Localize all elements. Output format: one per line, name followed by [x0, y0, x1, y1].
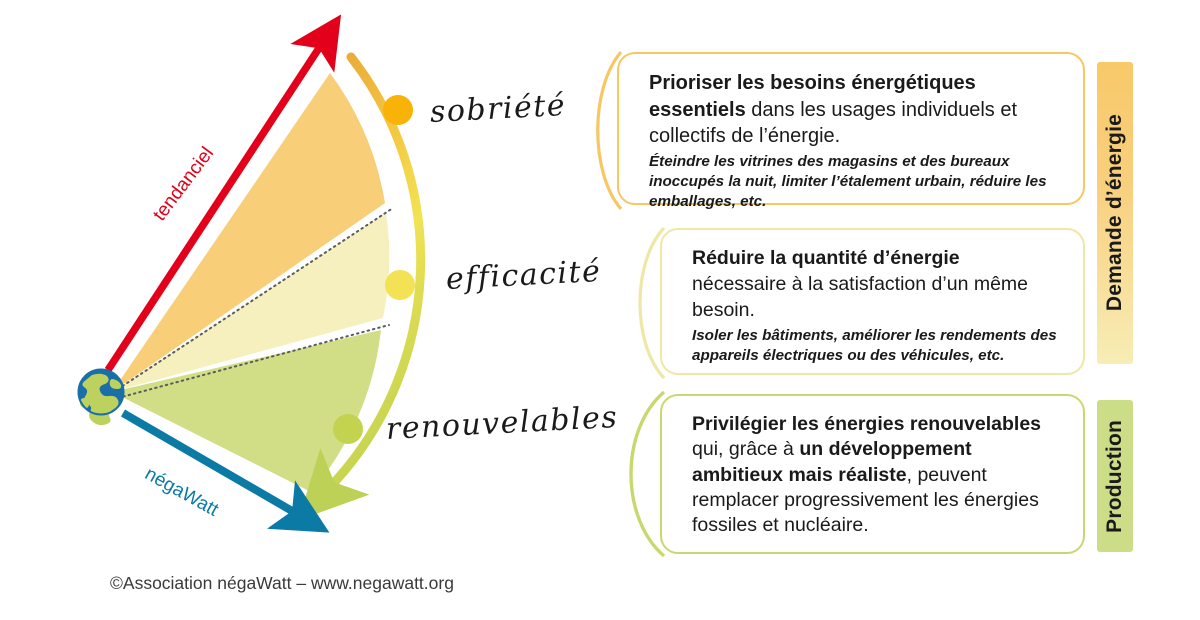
callout-sobriete-lead: Prioriser les besoins énergétiques essen…: [649, 70, 1059, 150]
infographic-canvas: sobriété efficacité renouvelables tendan…: [0, 0, 1200, 620]
category-bar-demande-label: Demande d’énergie: [1103, 114, 1127, 311]
dot-renouvelables: [333, 414, 363, 444]
globe-earth-icon: [79, 370, 124, 426]
dot-efficacite: [385, 270, 415, 300]
dot-sobriete: [383, 95, 413, 125]
callout-efficacite-sub: Isoler les bâtiments, améliorer les rend…: [692, 326, 1059, 366]
category-bar-production: Production: [1097, 400, 1133, 552]
callout-sobriete-sub: Éteindre les vitrines des magasins et de…: [649, 152, 1059, 212]
credit-line: ©Association négaWatt – www.negawatt.org: [110, 573, 454, 594]
callout-renouvelables-lead-rest-1: qui, grâce à: [692, 438, 799, 460]
callout-renouvelables: Privilégier les énergies renouvelables q…: [660, 394, 1085, 554]
callout-efficacite-lead: Réduire la quantité d’énergie nécessaire…: [692, 246, 1059, 324]
category-bar-demande-energie: Demande d’énergie: [1097, 62, 1133, 364]
callout-efficacite-lead-rest: nécessaire à la satisfaction d’un même b…: [692, 273, 1028, 321]
callout-renouvelables-lead-bold-1: Privilégier les énergies renouvelables: [692, 413, 1041, 435]
callout-efficacite-lead-bold: Réduire la quantité d’énergie: [692, 247, 960, 269]
callout-efficacite: Réduire la quantité d’énergie nécessaire…: [660, 228, 1085, 375]
category-bar-production-label: Production: [1103, 420, 1127, 533]
callout-renouvelables-lead: Privilégier les énergies renouvelables q…: [692, 412, 1059, 539]
wedge-label-sobriete: sobriété: [429, 88, 567, 130]
callout-sobriete: Prioriser les besoins énergétiques essen…: [617, 52, 1085, 205]
